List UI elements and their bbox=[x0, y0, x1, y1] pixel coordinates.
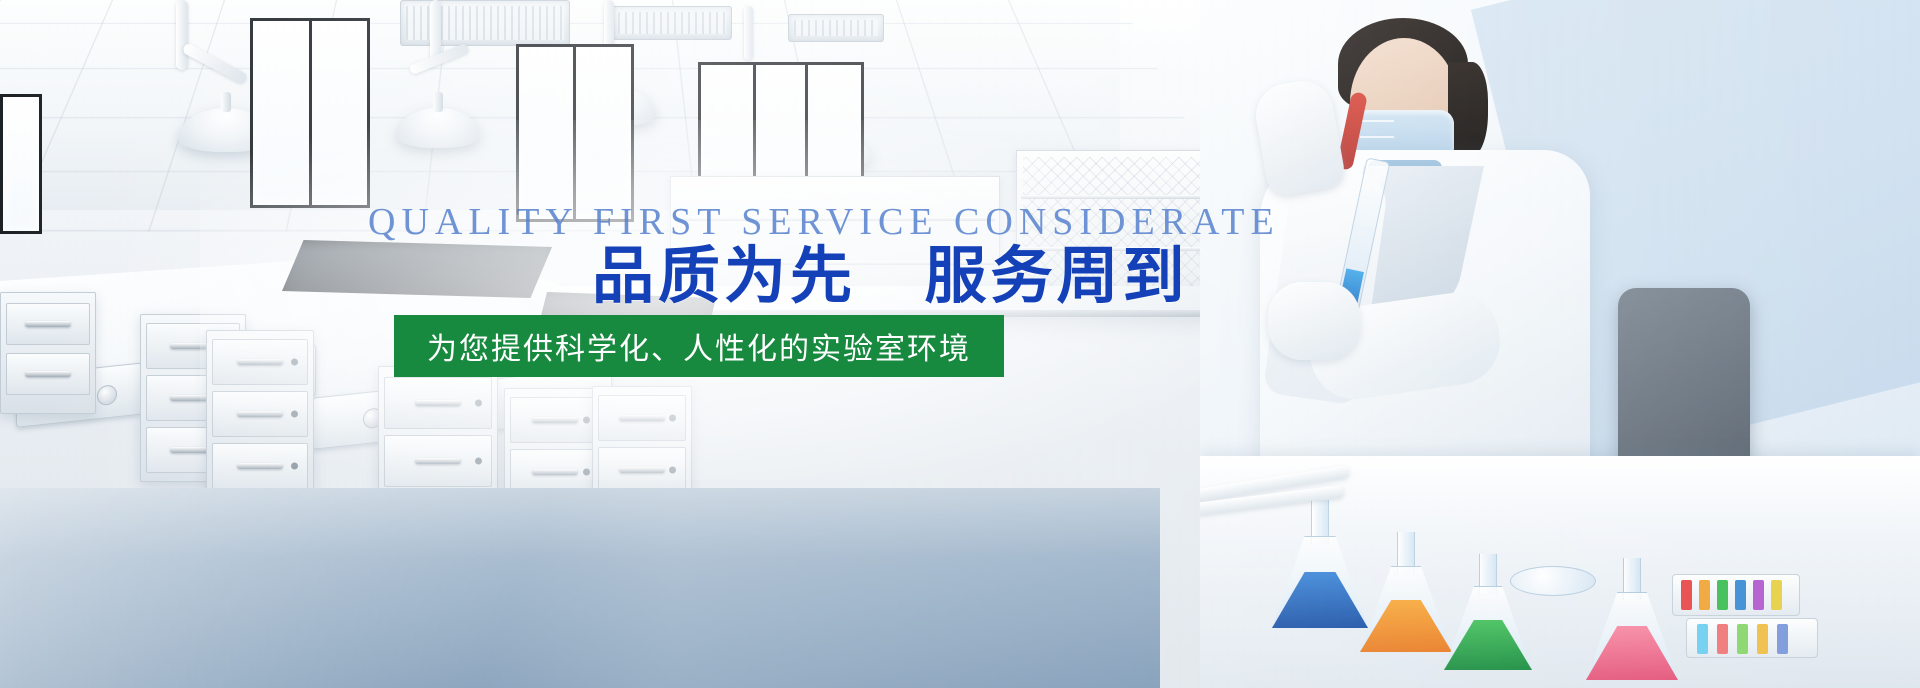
banner-subtitle-bar: 为您提供科学化、人性化的实验室环境 bbox=[394, 315, 1004, 377]
hero-banner: QUALITY FIRST SERVICE CONSIDERATE 品质为先 服… bbox=[0, 0, 1920, 688]
headline-part-1: 品质为先 bbox=[592, 242, 856, 311]
banner-headline: 品质为先 服务周到 bbox=[592, 246, 1189, 308]
banner-subtitle-text: 为您提供科学化、人性化的实验室环境 bbox=[427, 324, 971, 368]
headline-part-2: 服务周到 bbox=[924, 242, 1188, 311]
banner-copy: QUALITY FIRST SERVICE CONSIDERATE 品质为先 服… bbox=[0, 0, 1920, 688]
banner-eyebrow-english: QUALITY FIRST SERVICE CONSIDERATE bbox=[368, 200, 1280, 244]
